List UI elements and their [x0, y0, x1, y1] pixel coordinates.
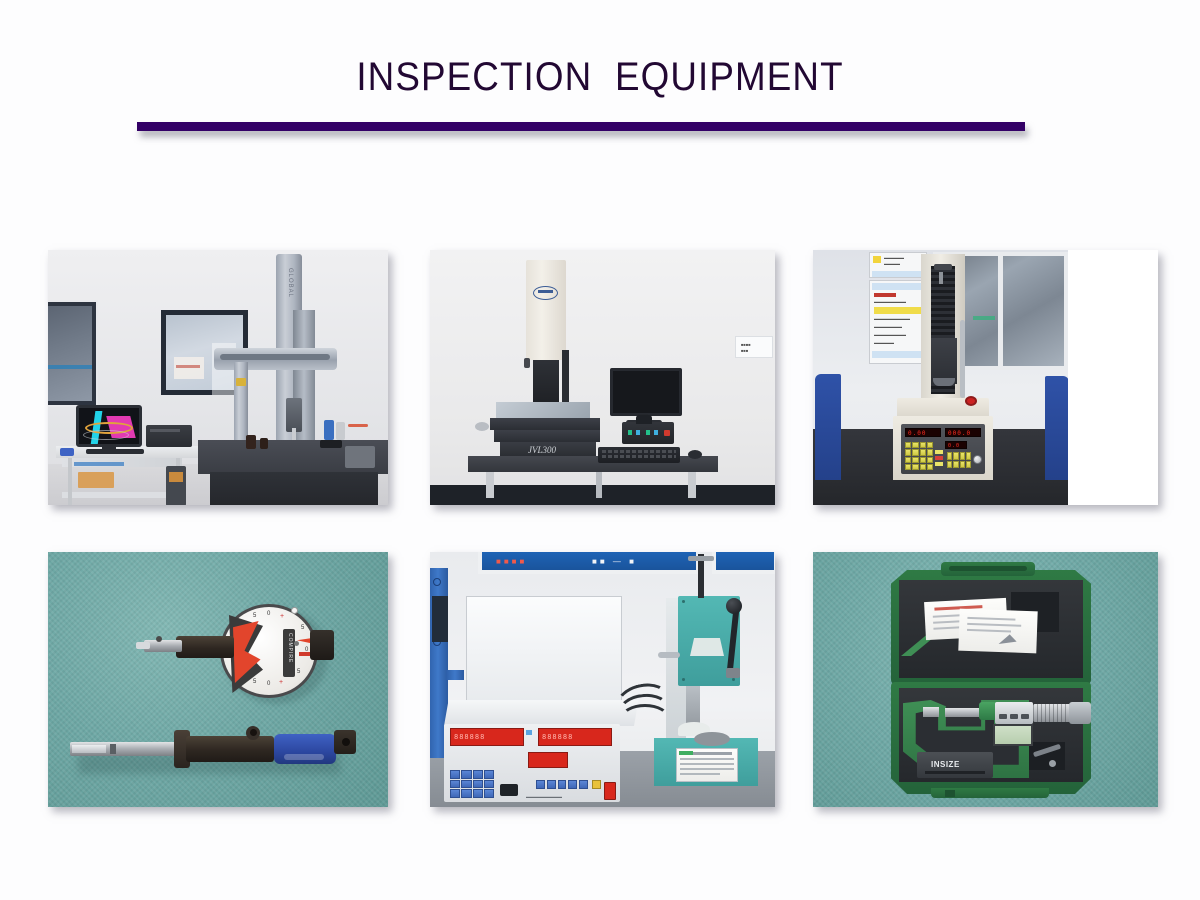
desk-blue-item: [60, 448, 74, 456]
keypad-key[interactable]: [473, 770, 483, 779]
arrow-key-down[interactable]: [935, 462, 943, 466]
vmm-joystick-controller[interactable]: [622, 422, 674, 444]
keypad-key[interactable]: [484, 770, 494, 779]
air-filter-2: [336, 422, 345, 440]
thimble-graduations: [1033, 704, 1071, 722]
keypad-key[interactable]: [484, 780, 494, 789]
micrometer-anvil: [923, 707, 939, 717]
dial-center-pivot: [294, 641, 299, 646]
label-line-4: [680, 768, 734, 770]
dial-tick-label-2: 0: [267, 611, 270, 617]
setting-standard-rod: [1033, 744, 1061, 757]
cert2-line-3: [967, 629, 1011, 633]
poster-header-band: [872, 283, 924, 290]
tensile-scene: ▬▬▬▬▬ ▬▬▬▬ ▬▬▬▬▬▬▬▬ ▬▬▬▬▬▬▬▬▬ ▬▬▬▬▬▬▬ ▬▬…: [813, 250, 1158, 505]
window-left: [48, 302, 96, 405]
emergency-stop-button[interactable]: [965, 396, 977, 406]
handle-highlight: [284, 754, 324, 760]
banner-text-red: ■■■■: [496, 557, 527, 566]
bore-gauge-scene: COMPIRE 5 0 + 5 0 5 + 0 5: [48, 552, 388, 807]
photo-force-tester[interactable]: ■■■■ ■■ — ■ 888888 888: [430, 552, 775, 807]
label-green-mark: [679, 751, 693, 755]
label-line-3: [680, 763, 734, 765]
hazard-icon: [873, 256, 881, 263]
vmm-knob-left: [524, 358, 530, 368]
poster-warning-band: [874, 307, 922, 314]
arrow-key-up[interactable]: [935, 450, 943, 454]
cmm-part-2: [260, 438, 268, 449]
tester-crosshead: [934, 264, 952, 270]
vmm-keyboard[interactable]: [598, 447, 680, 463]
case-handle-grip: [949, 566, 1027, 571]
power-cable-coil-3: [620, 704, 670, 734]
dial-plus-sign-2: +: [279, 679, 283, 686]
head-screw-br: [732, 678, 735, 681]
cmm-brand-label: GLOBAL: [281, 268, 293, 320]
function-key[interactable]: [960, 461, 965, 469]
arrow-key-center[interactable]: [935, 456, 943, 460]
bore-gauge-body: [186, 736, 274, 762]
laser-printer: [146, 425, 192, 447]
photo-vmm[interactable]: JVL300: [430, 250, 775, 505]
wall-banner-right: [712, 552, 775, 574]
keypad-key[interactable]: [461, 770, 471, 779]
keypad-key[interactable]: [927, 442, 933, 448]
led-display-right: 000.0: [945, 428, 981, 437]
function-key[interactable]: [579, 780, 588, 789]
poster-title-red: [874, 293, 896, 297]
vmm-handwheel: [475, 422, 489, 431]
head-screw-bl: [682, 678, 685, 681]
storage-rack-beam: [446, 670, 464, 680]
power-switch-red[interactable]: [604, 782, 616, 800]
keypad-key[interactable]: [461, 789, 471, 798]
cmm-scene: GLOBAL: [48, 250, 388, 505]
micrometer-display-housing: [995, 702, 1033, 724]
keypad-key[interactable]: [905, 464, 911, 470]
keypad-key[interactable]: [927, 449, 933, 455]
photo-micrometer[interactable]: INSIZE: [813, 552, 1158, 807]
led-1-digits: 888888: [454, 733, 485, 741]
calibration-certificate-2: [958, 609, 1037, 654]
controller-top-surface: [444, 700, 639, 726]
led-display-1: 888888: [450, 728, 524, 746]
dial-tick-label-6: 0: [267, 681, 270, 687]
numeric-keypad[interactable]: [905, 442, 933, 470]
vmm-z-rail: [562, 350, 569, 406]
led-display-small: 0.0: [945, 441, 967, 449]
vmm-joystick-knob[interactable]: [636, 415, 652, 424]
vmm-xy-stage: [490, 418, 600, 430]
vmm-bench-leg-mid: [596, 472, 602, 498]
wall-board: [466, 596, 622, 708]
keypad-key[interactable]: [927, 464, 933, 470]
page-title: INSPECTION EQUIPMENT: [48, 55, 1152, 100]
keypad-key[interactable]: [912, 449, 918, 455]
window-center-paper: [174, 357, 204, 379]
micrometer-brand-bar: [925, 771, 985, 774]
safety-poster-top: ▬▬▬▬▬ ▬▬▬▬: [869, 252, 927, 278]
function-key[interactable]: [953, 452, 958, 460]
keypad-key[interactable]: [920, 449, 926, 455]
air-filter-1: [324, 420, 334, 440]
bore-gauge-collar: [110, 744, 116, 754]
cad-monitor: [76, 405, 142, 447]
cad-graphic-white: [83, 430, 129, 440]
wall-banner: ■■■■ ■■ — ■: [478, 552, 700, 574]
upper-probe-screw: [156, 636, 162, 642]
tensile-photo-content: ▬▬▬▬▬ ▬▬▬▬ ▬▬▬▬▬▬▬▬ ▬▬▬▬▬▬▬▬▬ ▬▬▬▬▬▬▬ ▬▬…: [813, 250, 1068, 505]
function-keypad[interactable]: [947, 452, 971, 468]
desk-box: [78, 472, 114, 488]
micrometer-frame-pad: INSIZE: [917, 752, 993, 778]
cmm-column-shadow: [293, 310, 315, 460]
display-button-2[interactable]: [1010, 714, 1018, 719]
dial-indicator-face: COMPIRE 5 0 + 5 0 5 + 0 5: [220, 604, 318, 698]
dial-brand-text: COMPIRE: [285, 633, 293, 673]
window-mullion-vertical: [998, 256, 1003, 366]
photo-cmm[interactable]: GLOBAL: [48, 250, 388, 505]
keypad-key[interactable]: [927, 457, 933, 463]
equipment-photo-grid: GLOBAL: [48, 250, 1158, 807]
function-key[interactable]: [960, 452, 965, 460]
banner-text-white: ■■ — ■: [592, 557, 637, 566]
vmm-stage-base: JVL300: [500, 442, 596, 456]
head-label-plate: [690, 638, 724, 656]
dial-tick-label-7: 5: [253, 679, 256, 685]
function-key[interactable]: [966, 461, 971, 469]
function-key[interactable]: [547, 780, 556, 789]
micrometer-scene: INSIZE: [813, 552, 1158, 807]
keypad-key[interactable]: [920, 457, 926, 463]
cmm-base: [210, 472, 378, 505]
vmm-model-label: JVL300: [528, 445, 556, 455]
vmm-bench-leg-right: [688, 472, 696, 498]
desk-leg-left: [68, 458, 72, 505]
pc-tower-panel: [169, 472, 183, 482]
keypad-key[interactable]: [920, 442, 926, 448]
vmm-optical-tower: [526, 260, 566, 360]
keypad-key[interactable]: [450, 789, 460, 798]
tester-control-panel[interactable]: 0.00 000.0 0.0: [901, 424, 985, 474]
window-green-light: [973, 316, 995, 320]
rack-dark-panel: [432, 596, 448, 642]
vmm-monitor: [610, 368, 682, 416]
safety-poster-main: ▬▬▬▬▬▬▬▬ ▬▬▬▬▬▬▬▬▬ ▬▬▬▬▬▬▬ ▬▬▬▬▬▬▬▬ ▬▬▬▬…: [869, 280, 927, 364]
dial-tick-label-5: 5: [297, 669, 300, 675]
tester-upper-grip: [939, 272, 943, 284]
cmm-controller-box: [345, 446, 375, 468]
force-tester-scene: ■■■■ ■■ — ■ 888888 888: [430, 552, 775, 807]
rotary-knob[interactable]: [973, 455, 982, 464]
cert2-line-1: [967, 617, 1015, 621]
micrometer-ratchet: [1069, 702, 1091, 724]
led-display-3: [528, 752, 568, 768]
keypad-key[interactable]: [473, 780, 483, 789]
keypad-key[interactable]: [905, 457, 911, 463]
desk-shelf-lower: [62, 492, 182, 498]
smock-right: [1045, 376, 1068, 480]
case-latch[interactable]: [945, 790, 955, 797]
title-divider-rule: [137, 122, 1025, 131]
dial-tick-label-3: 5: [301, 625, 304, 631]
cert2-signature: [999, 634, 1017, 645]
dial-back-cap: [310, 630, 334, 660]
printer-tray-line: [150, 429, 180, 432]
keypad-key[interactable]: [912, 457, 918, 463]
tester-lower-grip: [933, 378, 955, 386]
display-button-3[interactable]: [1021, 714, 1029, 719]
spanner-wrench: [1049, 760, 1056, 767]
function-key[interactable]: [966, 452, 971, 460]
controller-brand-text: ▬▬▬▬▬▬▬▬▬: [526, 794, 586, 798]
kbd-row-1: [602, 450, 676, 453]
alarm-key-yellow[interactable]: [592, 780, 601, 789]
window-center-paper-line: [176, 365, 200, 368]
function-key[interactable]: [558, 780, 567, 789]
keypad-key[interactable]: [905, 442, 911, 448]
dial-tick-label-1: 5: [253, 613, 256, 619]
vmm-baseboard: [430, 485, 775, 505]
vmm-bench-leg-left: [486, 472, 494, 498]
wall-sign: ■■■■ ■■■: [735, 336, 773, 358]
micrometer-brand-label: INSIZE: [931, 760, 960, 769]
photo-tensile[interactable]: ▬▬▬▬▬ ▬▬▬▬ ▬▬▬▬▬▬▬▬ ▬▬▬▬▬▬▬▬▬ ▬▬▬▬▬▬▬ ▬▬…: [813, 250, 1158, 505]
led-2-digits: 888888: [542, 733, 573, 741]
air-hose: [348, 424, 368, 427]
ctrl-led-green-1: [628, 430, 632, 435]
photo-white-margin: [1068, 250, 1158, 505]
keypad-key[interactable]: [450, 780, 460, 789]
controller-logo-block: [500, 784, 518, 796]
keypad-key[interactable]: [920, 464, 926, 470]
end-cap-hole: [342, 738, 350, 746]
dial-bezel-screw: [291, 607, 298, 614]
lever-knob[interactable]: [726, 598, 742, 614]
dial-plus-sign: +: [280, 613, 284, 620]
micrometer-thimble: [1033, 704, 1071, 722]
vmm-scene: JVL300: [430, 250, 775, 505]
keypad-key[interactable]: [912, 442, 918, 448]
keypad-key[interactable]: [912, 464, 918, 470]
vmm-mouse[interactable]: [688, 450, 702, 459]
keypad-key[interactable]: [461, 780, 471, 789]
cmm-part-1: [246, 435, 256, 449]
bore-gauge-clamp-hole: [250, 729, 257, 736]
cmm-beam-rail: [220, 354, 330, 360]
cert2-line-2: [967, 623, 1021, 627]
case-lid: [891, 570, 1091, 684]
stand-side-handle[interactable]: [658, 652, 680, 658]
poster-footer-band: [872, 351, 924, 358]
function-key[interactable]: [536, 780, 545, 789]
label-line-5: [680, 773, 720, 775]
function-key[interactable]: [568, 780, 577, 789]
poster-top-footer: [872, 271, 924, 277]
function-key[interactable]: [947, 452, 952, 460]
upper-probe-tip: [136, 642, 150, 649]
vmm-logo-bar: [538, 290, 553, 293]
ctrl-led-green-2: [646, 430, 650, 435]
keypad-key[interactable]: [484, 789, 494, 798]
micrometer-lcd: [993, 724, 1033, 746]
window-left-mullion: [48, 365, 92, 369]
label-line-2: [680, 758, 734, 760]
kbd-row-2: [602, 455, 676, 458]
rack-hole-1: [433, 578, 441, 586]
foam-accessory-cutout: [1029, 742, 1065, 770]
cmm-fixture: [320, 440, 342, 448]
display-button-1[interactable]: [999, 714, 1007, 719]
photo-bore-gauge[interactable]: COMPIRE 5 0 + 5 0 5 + 0 5: [48, 552, 388, 807]
controller-function-row[interactable]: [536, 780, 588, 789]
controller-unit[interactable]: 888888 888888: [444, 724, 620, 802]
upper-probe-body: [176, 636, 234, 658]
desk-drawer-strip: [74, 462, 124, 466]
micrometer-spindle: [945, 708, 979, 717]
keypad-key[interactable]: [905, 449, 911, 455]
test-stand-base: [654, 738, 758, 786]
vmm-stage-lower: [494, 430, 600, 442]
function-key[interactable]: [953, 461, 958, 469]
smock-left: [815, 374, 841, 480]
cmm-probe-head: [286, 398, 302, 432]
ctrl-led-blue-1: [636, 430, 640, 435]
ctrl-led-blue-2: [654, 430, 658, 435]
vmm-bench-top: [468, 456, 718, 472]
cmm-warning-sticker: [236, 378, 246, 386]
vmm-camera-housing: [533, 360, 559, 404]
stand-adjust-handle[interactable]: [688, 556, 714, 561]
lever-pivot: [726, 668, 740, 678]
tester-cable: [960, 320, 965, 398]
vmm-logo: [533, 286, 558, 300]
led-display-2: 888888: [538, 728, 612, 746]
base-anvil: [694, 732, 730, 746]
keypad-key[interactable]: [473, 789, 483, 798]
led-display-left: 0.00: [905, 428, 941, 437]
keyboard-cmm: [86, 449, 144, 454]
case-handle[interactable]: [941, 562, 1035, 576]
bore-gauge-tip: [72, 745, 106, 753]
controller-keypad[interactable]: [450, 770, 494, 798]
head-screw-tl: [682, 600, 685, 603]
keypad-key[interactable]: [450, 770, 460, 779]
function-key[interactable]: [947, 461, 952, 469]
status-led-blue: [526, 730, 532, 735]
ctrl-led-red: [664, 430, 670, 436]
base-spec-label: [676, 748, 738, 782]
